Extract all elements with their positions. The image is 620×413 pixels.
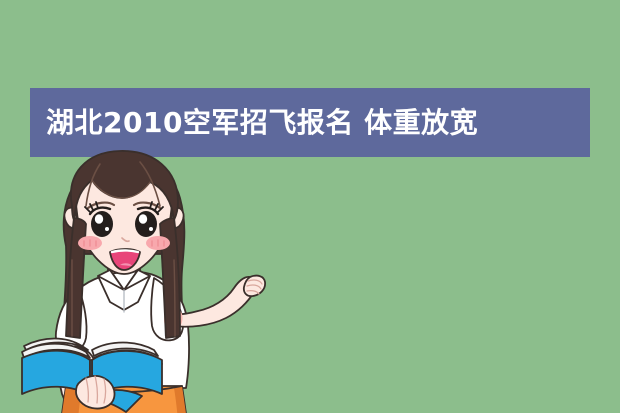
cartoon-girl-illustration — [14, 150, 274, 413]
page-title: 湖北2010空军招飞报名 体重放宽 — [46, 109, 478, 137]
poster-canvas: 湖北2010空军招飞报名 体重放宽 — [0, 0, 620, 413]
title-banner: 湖北2010空军招飞报名 体重放宽 — [30, 88, 590, 157]
